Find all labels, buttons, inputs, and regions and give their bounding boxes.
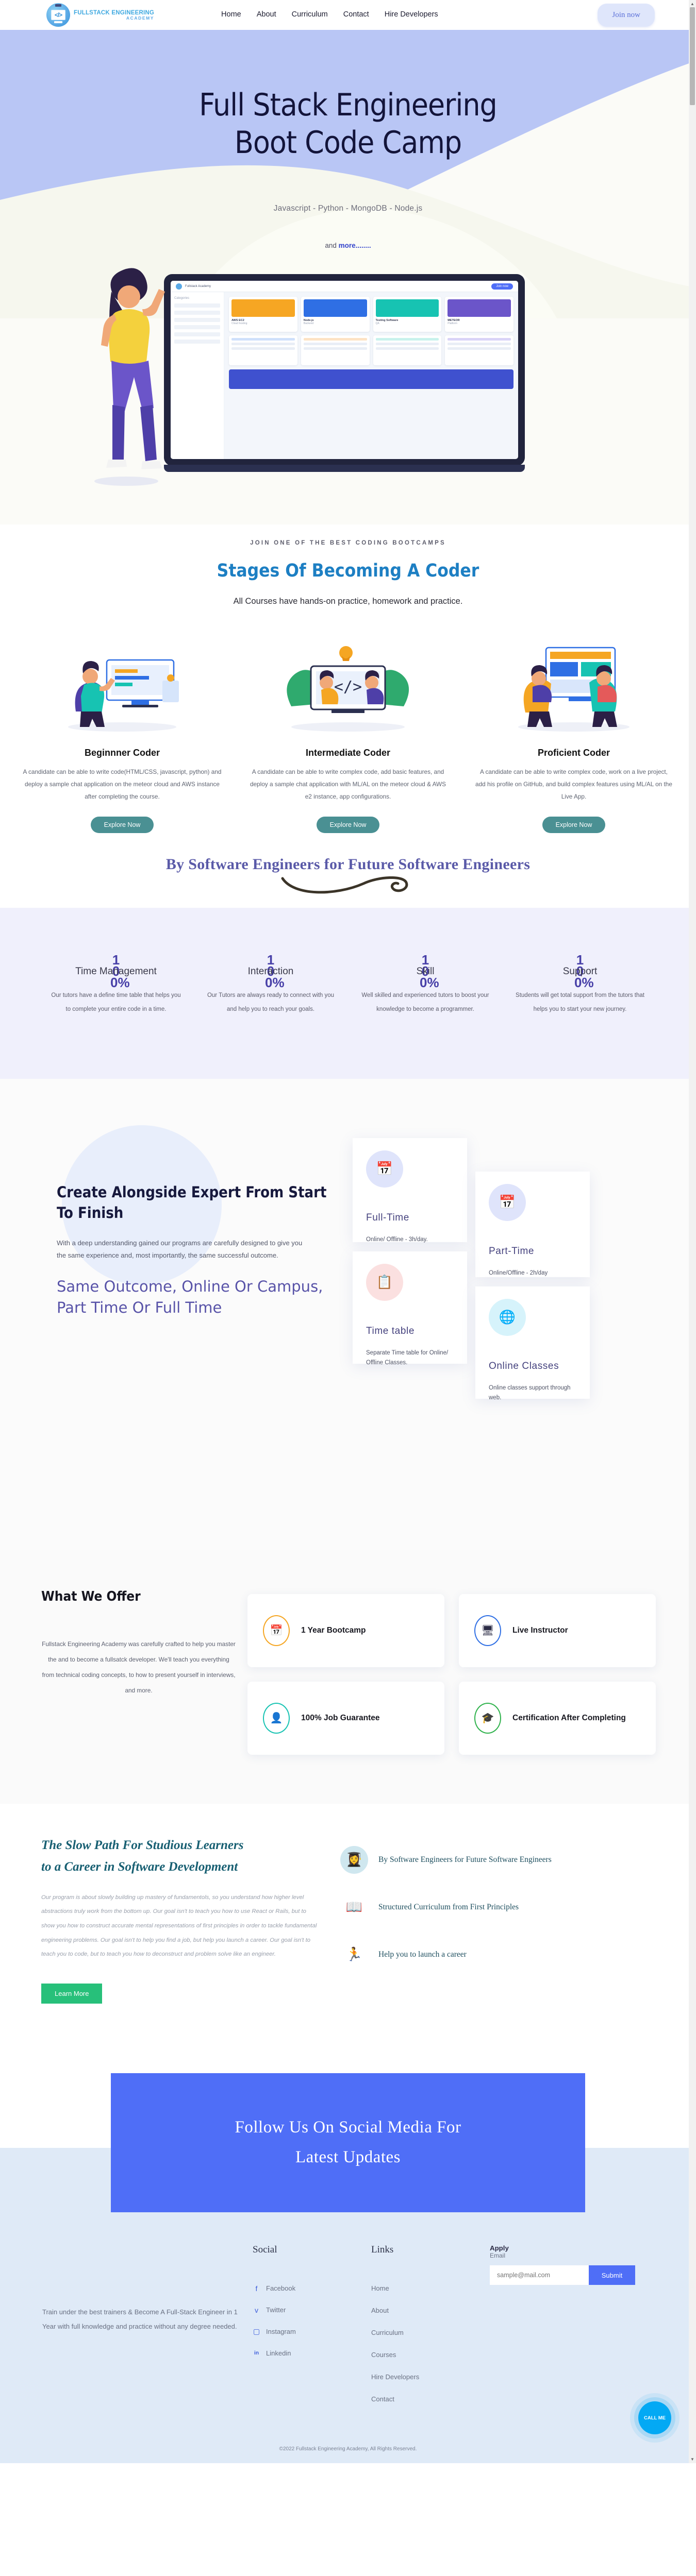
stage-card-desc: A candidate can be able to write complex… [248,766,448,803]
page-scrollbar[interactable]: ▲ ▼ [689,0,696,2463]
mock-app-sidebar: Categories [171,292,224,459]
email-form: Submit [490,2265,665,2285]
mock-sidebar-row [174,318,220,322]
slow-path-heading-line2: to a Career in Software Development [41,1856,340,1878]
stage-card-title: Beginnner Coder [23,748,222,758]
stat-label: Support [503,966,657,977]
hero-title: Full Stack Engineering Boot Code Camp [0,87,696,162]
navbar: </> FULLSTACK ENGINEERING ACADEMY Home A… [0,0,696,30]
footer-inner: Train under the best trainers & Become A… [0,2244,696,2417]
mock-sidebar-heading: Categories [174,297,220,300]
footer-link-hire-developers[interactable]: Hire Developers [371,2373,490,2381]
proficient-illustration [474,624,673,742]
graduate-glyph: 🎓 [482,1711,494,1724]
learn-more-button[interactable]: Learn More [41,1984,102,2004]
follow-banner-line1: Follow Us On Social Media For [235,2113,461,2143]
slow-path-inner: The Slow Path For Studious Learners to a… [0,1835,696,2004]
hero-title-line1: Full Stack Engineering [0,87,696,124]
mock-app-body: Categories [171,292,518,459]
laptop-screen: Fullstack Academy Join now Categories [171,281,518,459]
stage-card-intermediate: </> Intermediate Coder A candidate can b… [235,624,461,833]
footer-apply-column: Apply Email Submit [490,2244,665,2417]
mock-card-small [445,335,513,365]
create-section: Create Alongside Expert From Start To Fi… [0,1079,696,1550]
user-check-icon: 👤 [263,1703,290,1734]
mock-card: METEOR Platform [445,297,513,332]
monitor-stand-shape [54,21,62,23]
slow-path-heading: The Slow Path For Studious Learners to a… [41,1835,340,1878]
hero-title-line2: Boot Code Camp [0,124,696,162]
stat-desc: Our tutors have a define time table that… [39,989,193,1017]
schedule-card-full-time[interactable]: 📅 Full-Time Online/ Offline - 3h/day. [353,1138,467,1242]
mock-bar [304,347,367,350]
calendar-icon: 📅 [263,1615,290,1646]
feature-item-text: By Software Engineers for Future Softwar… [378,1855,552,1865]
create-copy: Create Alongside Expert From Start To Fi… [57,1128,345,1488]
landing-page: </> FULLSTACK ENGINEERING ACADEMY Home A… [0,0,696,2463]
calendar-icon: 📅 [489,1184,526,1221]
nav-links: Home About Curriculum Contact Hire Devel… [221,10,438,20]
offer-copy: What We Offer Fullstack Engineering Acad… [31,1589,247,1755]
footer-apply-heading: Apply [490,2244,665,2252]
stat-desc: Students will get total support from the… [503,989,657,1017]
mock-app-main: AWS EC2 Cloud hosting Node.js Backend [224,292,518,459]
hero-subtitle: Javascript - Python - MongoDB - Node.js [0,204,696,213]
stages-section: JOIN ONE OF THE BEST CODING BOOTCAMPS St… [0,524,696,838]
stage-card-desc: A candidate can be able to write code(HT… [23,766,222,803]
offer-card-live-instructor[interactable]: 🖥 Live Instructor [459,1594,656,1667]
mock-card-sub: Cloud hosting [231,322,295,325]
mock-card-thumb [304,299,367,317]
stat-desc: Well skilled and experienced tutors to b… [348,989,503,1017]
checklist-glyph: 📋 [376,1274,393,1290]
create-paragraph: With a deep understanding gained our pro… [57,1237,304,1262]
submit-button[interactable]: Submit [589,2265,635,2285]
globe-glyph: 🌐 [499,1309,516,1325]
stat-desc: Our Tutors are always ready to connect w… [193,989,348,1017]
mock-app-topbar: Fullstack Academy Join now [171,281,518,292]
offer-cards: 📅 1 Year Bootcamp 🖥 Live Instructor 👤 10… [247,1589,665,1755]
mock-card-thumb [448,299,511,317]
mock-sidebar-row [174,332,220,336]
footer-social-heading: Social [253,2244,371,2256]
schedule-card-title: Time table [366,1326,454,1337]
offer-heading: What We Offer [41,1589,247,1604]
brand-logo-group[interactable]: </> FULLSTACK ENGINEERING ACADEMY [46,3,154,27]
brand-name: FULLSTACK ENGINEERING [74,10,154,16]
mock-card-sub: Backend [304,322,367,325]
follow-banner-line2: Latest Updates [295,2143,401,2173]
schedule-card-title: Full-Time [366,1212,454,1224]
mock-app-name: Fullstack Academy [185,285,211,288]
schedule-card-desc: Online/Offline - 2h/day [489,1268,576,1279]
schedule-card-title: Part-Time [489,1246,576,1257]
academy-logo-icon: </> [46,3,70,27]
social-link-label: Instagram [266,2328,296,2335]
beginner-illustration [23,624,222,742]
follow-banner-section: Follow Us On Social Media For Latest Upd… [0,2032,696,2212]
mock-bar [304,338,367,341]
stages-heading: Stages Of Becoming A Coder [0,561,696,581]
slow-path-features: 👩‍🎓 By Software Engineers for Future Sof… [340,1835,665,2004]
feature-item-text: Help you to launch a career [378,1950,467,1959]
call-me-button[interactable]: CALL ME [638,2401,671,2434]
mock-bar [376,338,439,341]
offer-card-bootcamp[interactable]: 📅 1 Year Bootcamp [247,1594,444,1667]
feature-item-career: 🏃 Help you to launch a career [340,1941,665,1969]
laptop-base [164,465,525,472]
calendar-glyph: 📅 [376,1161,393,1177]
stat-interaction: 100% Interaction Our Tutors are always r… [193,954,348,1017]
nav-item-about[interactable]: About [257,10,276,19]
checklist-icon: 📋 [366,1264,403,1301]
graduate-icon: 🎓 [474,1703,501,1734]
globe-icon: 🌐 [489,1299,526,1336]
scroll-up-arrow-icon[interactable]: ▲ [690,2,694,6]
email-label: Email [490,2252,665,2259]
offer-card-certification[interactable]: 🎓 Certification After Completing [459,1682,656,1755]
stages-subheading: All Courses have hands-on practice, home… [0,597,696,606]
mock-sidebar-row [174,303,220,308]
hero-more-label: more........ [339,242,371,249]
svg-text:</>: </> [334,678,362,696]
hero-section: Full Stack Engineering Boot Code Camp Ja… [0,30,696,524]
mock-app-cta: Join now [491,283,513,290]
stat-skill: 100% Skill Well skilled and experienced … [348,954,503,1017]
follow-banner: Follow Us On Social Media For Latest Upd… [111,2073,585,2212]
stat-support: 100% Support Students will get total sup… [503,954,657,1017]
social-link-label: Linkedin [266,2349,291,2357]
graduate-avatar-icon: 👩‍🎓 [340,1846,368,1874]
mock-card-sub: Platform [448,322,511,325]
runner-icon: 🏃 [340,1941,368,1969]
mock-card: Testing Software QA [373,297,442,332]
twitter-icon: ᴠ [253,2306,260,2314]
footer: Train under the best trainers & Become A… [0,2212,696,2463]
book-check-glyph: 📖 [346,1899,362,1915]
schedule-card-online-classes[interactable]: 🌐 Online Classes Online classes support … [475,1286,590,1399]
stage-card-desc: A candidate can be able to write complex… [474,766,673,803]
schedule-card-time-table[interactable]: 📋 Time table Separate Time table for Onl… [353,1251,467,1364]
monitor-glyph: 🖥 [481,1624,494,1637]
stat-time-management: 100% Time Management Our tutors have a d… [39,954,193,1017]
stage-card-title: Proficient Coder [474,748,673,758]
mock-card-thumb [231,299,295,317]
mock-bar [376,347,439,350]
stats-row: 100% Time Management Our tutors have a d… [0,954,696,1017]
footer-social-column: Social f Facebook ᴠ Twitter ▢ Instagram … [253,2244,371,2417]
offer-card-job-guarantee[interactable]: 👤 100% Job Guarantee [247,1682,444,1755]
mock-bar [304,343,367,345]
schedule-card-desc: Separate Time table for Online/ Offline … [366,1348,454,1368]
footer-link-about[interactable]: About [371,2307,490,2314]
schedule-cards: 📅 Full-Time Online/ Offline - 3h/day. 📅 … [345,1128,634,1488]
footer-links-column: Links Home About Curriculum Courses Hire… [371,2244,490,2417]
offer-card-label: Certification After Completing [512,1713,626,1724]
mock-bar [448,347,511,350]
intermediate-illustration: </> [248,624,448,742]
schedule-card-desc: Online classes support through web. [489,1383,576,1403]
laptop-body: Fullstack Academy Join now Categories [164,274,525,466]
social-link-label: Facebook [266,2284,295,2292]
social-link-twitter[interactable]: ᴠ Twitter [253,2306,371,2314]
mock-card-small [229,335,297,365]
flourish-ornament-icon [273,874,423,896]
hero-more-text: and more........ [0,242,696,249]
mock-sidebar-row [174,325,220,329]
stage-card-title: Intermediate Coder [248,748,448,758]
mock-app-logo-icon [176,283,182,290]
footer-links-heading: Links [371,2244,490,2256]
offer-section: What We Offer Fullstack Engineering Acad… [0,1550,696,1804]
scrollbar-thumb[interactable] [690,7,695,105]
social-link-label: Twitter [266,2306,286,2314]
stage-card-beginner: Beginnner Coder A candidate can be able … [9,624,235,833]
explore-now-button-proficient[interactable]: Explore Now [542,817,606,833]
engineers-banner: By Software Engineers for Future Softwar… [0,838,696,908]
user-check-glyph: 👤 [270,1711,283,1724]
schedule-card-part-time[interactable]: 📅 Part-Time Online/Offline - 2h/day [475,1172,590,1277]
nav-item-contact[interactable]: Contact [343,10,369,19]
copyright-text: ©2022 Fullstack Engineering Academy, All… [0,2417,696,2463]
stat-label: Interaction [193,966,348,977]
nav-item-curriculum[interactable]: Curriculum [292,10,328,19]
facebook-icon: f [253,2284,260,2292]
footer-link-courses[interactable]: Courses [371,2351,490,2359]
linkedin-icon: in [253,2349,260,2357]
stage-card-proficient: Proficient Coder A candidate can be able… [461,624,687,833]
mock-card-grid: AWS EC2 Cloud hosting Node.js Backend [229,297,513,332]
mock-sidebar-row [174,311,220,315]
calendar-icon: 📅 [366,1150,403,1188]
mock-card: Node.js Backend [301,297,370,332]
explore-now-button-intermediate[interactable]: Explore Now [317,817,380,833]
engineers-banner-text: By Software Engineers for Future Softwar… [0,856,696,873]
mock-sidebar-row [174,340,220,344]
brand-text: FULLSTACK ENGINEERING ACADEMY [74,10,154,21]
footer-link-home[interactable]: Home [371,2284,490,2292]
hero-and-label: and [325,242,338,249]
mock-card-sub: QA [376,322,439,325]
join-now-button[interactable]: Join now [598,4,655,27]
stat-label: Time Management [39,966,193,977]
mock-card-grid-secondary [229,335,513,365]
offer-paragraph: Fullstack Engineering Academy was carefu… [41,1636,247,1698]
stats-section: 100% Time Management Our tutors have a d… [0,908,696,1079]
slow-path-heading-line1: The Slow Path For Studious Learners [41,1835,340,1857]
graduate-avatar-glyph: 👩‍🎓 [346,1852,362,1868]
mock-bar [376,343,439,345]
beginner-illustration-svg [45,629,200,737]
calendar-glyph: 📅 [499,1194,516,1210]
mock-footer-banner [229,369,513,389]
footer-about: Train under the best trainers & Become A… [31,2244,253,2417]
mock-card-thumb [376,299,439,317]
feature-item-text: Structured Curriculum from First Princip… [378,1903,519,1912]
runner-glyph: 🏃 [346,1946,362,1962]
offer-card-label: 100% Job Guarantee [301,1713,379,1724]
schedule-card-desc: Online/ Offline - 3h/day. [366,1235,454,1245]
feature-item-curriculum: 📖 Structured Curriculum from First Princ… [340,1893,665,1921]
mock-bar [231,338,295,341]
offer-inner: What We Offer Fullstack Engineering Acad… [0,1589,696,1755]
schedule-card-title: Online Classes [489,1361,576,1372]
nav-item-home[interactable]: Home [221,10,241,19]
brand-subtitle: ACADEMY [74,16,154,21]
email-input[interactable] [490,2265,589,2285]
mock-card: AWS EC2 Cloud hosting [229,297,297,332]
slow-path-section: The Slow Path For Studious Learners to a… [0,1804,696,2032]
nav-item-hire-developers[interactable]: Hire Developers [385,10,438,19]
stage-cards: Beginnner Coder A candidate can be able … [0,624,696,833]
calendar-glyph: 📅 [270,1624,283,1637]
stages-eyebrow: JOIN ONE OF THE BEST CODING BOOTCAMPS [0,540,696,546]
social-link-facebook[interactable]: f Facebook [253,2284,371,2292]
proficient-illustration-svg [496,629,651,737]
stat-label: Skill [348,966,503,977]
footer-link-contact[interactable]: Contact [371,2395,490,2403]
intermediate-illustration-svg: </> [271,629,425,737]
instagram-icon: ▢ [253,2328,260,2335]
hero-illustration: Fullstack Academy Join now Categories [0,265,696,512]
mock-bar [448,338,511,341]
social-link-instagram[interactable]: ▢ Instagram [253,2328,371,2335]
slow-path-copy: The Slow Path For Studious Learners to a… [31,1835,340,2004]
code-screen-icon: </> [51,10,65,20]
offer-card-label: Live Instructor [512,1625,568,1636]
footer-link-curriculum[interactable]: Curriculum [371,2329,490,2336]
laptop-illustration: Fullstack Academy Join now Categories [164,274,525,480]
social-link-linkedin[interactable]: in Linkedin [253,2349,371,2357]
slow-path-body: Our program is about slowly building up … [41,1891,320,1962]
mock-bar [231,343,295,345]
student-illustration [77,265,175,486]
graduation-cap-shape [55,4,61,7]
create-heading: Create Alongside Expert From Start To Fi… [57,1182,345,1224]
mock-card-small [373,335,442,365]
monitor-icon: 🖥 [474,1615,501,1646]
scroll-down-arrow-icon[interactable]: ▼ [690,2457,694,2462]
explore-now-button-beginner[interactable]: Explore Now [91,817,154,833]
mock-bar [231,347,295,350]
mock-bar [448,343,511,345]
offer-card-label: 1 Year Bootcamp [301,1625,366,1636]
footer-about-text: Train under the best trainers & Become A… [42,2305,253,2334]
create-inner: Create Alongside Expert From Start To Fi… [0,1128,696,1488]
hero-content: Full Stack Engineering Boot Code Camp Ja… [0,30,696,249]
create-big-heading: Same Outcome, Online Or Campus, Part Tim… [57,1276,345,1318]
feature-item-engineers: 👩‍🎓 By Software Engineers for Future Sof… [340,1846,665,1874]
mock-card-small [301,335,370,365]
book-check-icon: 📖 [340,1893,368,1921]
